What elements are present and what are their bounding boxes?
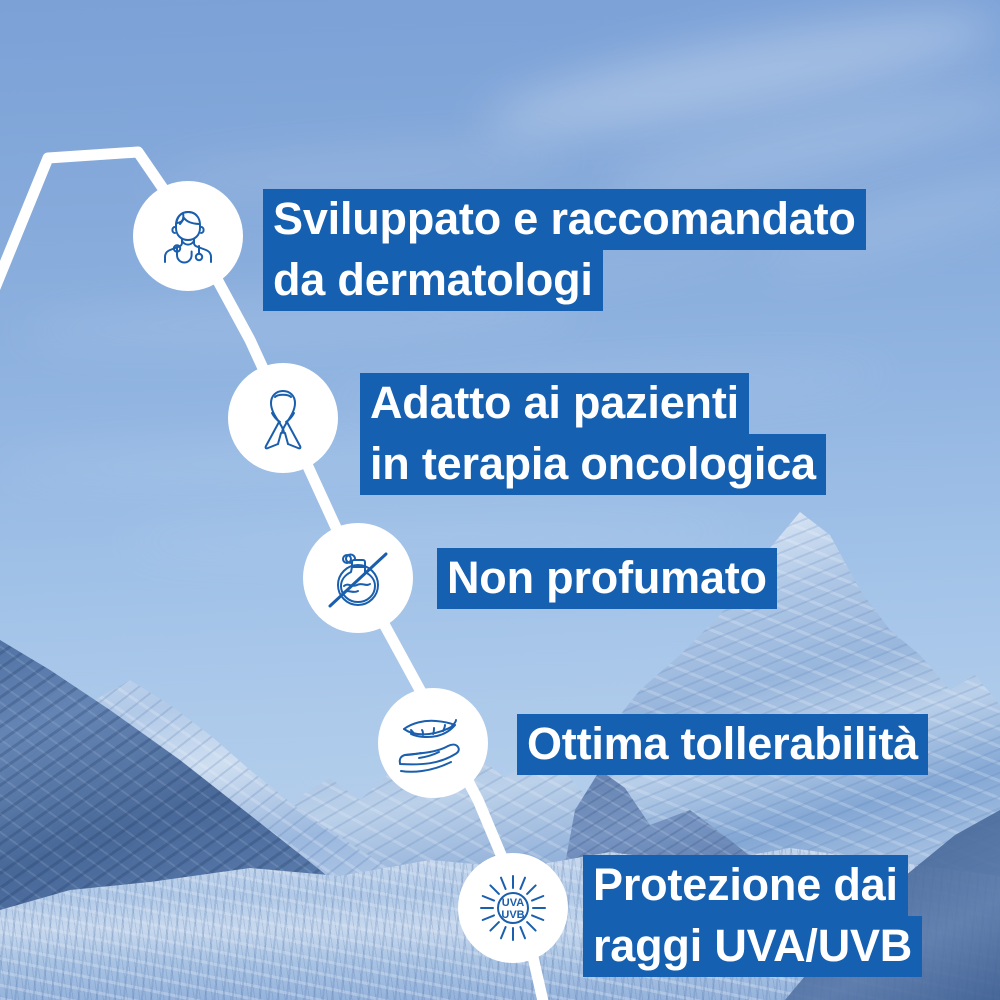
benefit-line: Adatto ai pazienti [360,373,749,434]
icon-circle-oncology [228,363,338,473]
icon-circle-fragrance-free [303,523,413,633]
icon-circle-dermatologists [133,181,243,291]
benefit-line: Ottima tollerabilità [517,714,928,775]
uva-label: UVA [502,897,524,909]
benefit-line: Sviluppato e raccomandato [263,189,866,250]
benefit-line: Protezione dai [583,855,908,916]
benefit-text-fragrance-free: Non profumato [437,548,777,609]
benefit-text-uv-protection: Protezione dai raggi UVA/UVB [583,855,922,977]
uvb-label: UVB [501,909,524,921]
no-perfume-icon [322,542,394,614]
benefit-line: da dermatologi [263,250,603,311]
benefits-infographic: UVA UVB Sviluppato e raccomandato da der… [0,0,1000,1000]
awareness-ribbon-icon [250,383,316,453]
benefit-line: in terapia oncologica [360,434,826,495]
benefit-text-tolerability: Ottima tollerabilità [517,714,928,775]
icon-circle-uv-protection: UVA UVB [458,853,568,963]
benefit-text-dermatologists: Sviluppato e raccomandato da dermatologi [263,189,866,311]
sun-uva-uvb-icon: UVA UVB [473,868,553,948]
benefit-text-oncology: Adatto ai pazienti in terapia oncologica [360,373,826,495]
benefit-line: Non profumato [437,548,777,609]
doctor-stethoscope-icon [153,201,223,271]
benefit-line: raggi UVA/UVB [583,916,922,977]
icon-circle-tolerability [378,688,488,798]
background-photo [0,0,1000,1000]
feather-on-hand-icon [395,707,471,779]
